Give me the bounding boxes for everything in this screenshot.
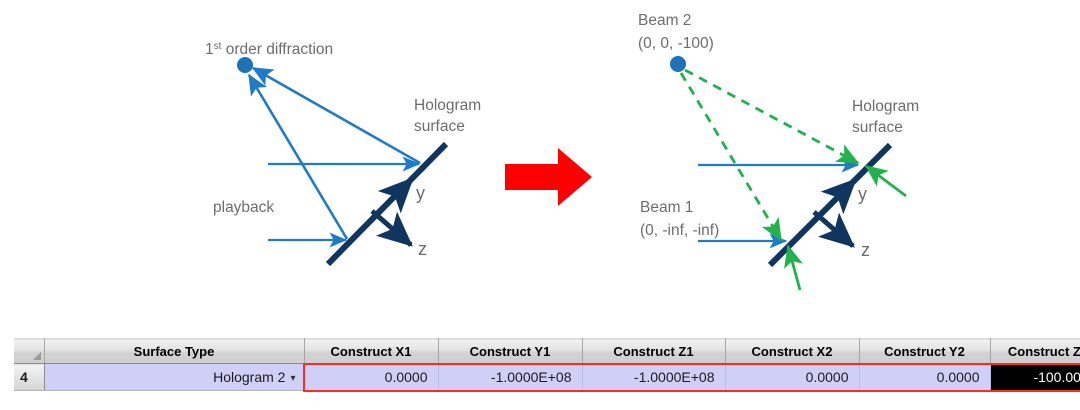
red-right-arrow bbox=[505, 148, 592, 206]
hologram-surface-label-right-line1: Hologram bbox=[852, 98, 919, 115]
hologram-surface-label-right-line2: surface bbox=[852, 119, 903, 136]
surface-type-value: Hologram 2 bbox=[213, 369, 285, 385]
cell-construct-x1[interactable]: 0.0000 bbox=[304, 364, 438, 391]
cell-construct-z1[interactable]: -1.0000E+08 bbox=[582, 364, 725, 391]
beam1-label-line1: Beam 1 bbox=[640, 199, 693, 216]
beam2-label-line2: (0, 0, -100) bbox=[638, 35, 714, 52]
label-rest: order diffraction bbox=[221, 41, 333, 58]
column-header-construct-x2[interactable]: Construct X2 bbox=[725, 339, 859, 364]
z-axis-label-left: z bbox=[418, 239, 427, 259]
cell-construct-z2[interactable]: -100.0000 bbox=[990, 364, 1080, 391]
cell-construct-x2[interactable]: 0.0000 bbox=[725, 364, 859, 391]
right-diagram-group: Beam 2 (0, 0, -100) y z Beam 1 (0, - bbox=[638, 12, 919, 290]
beam2-label-line1: Beam 2 bbox=[638, 12, 691, 29]
diffracted-ray-upper bbox=[253, 68, 420, 163]
green-arrow-lower bbox=[788, 246, 800, 290]
green-arrow-upper bbox=[866, 166, 906, 196]
beam2-point bbox=[670, 56, 686, 72]
row-number-cell[interactable]: 4 bbox=[14, 364, 44, 391]
table-row[interactable]: 4 Hologram 2▾ 0.0000 -1.0000E+08 -1.0000… bbox=[14, 364, 1080, 391]
transition-arrow-group bbox=[505, 148, 592, 206]
surface-data-table[interactable]: Surface Type Construct X1 Construct Y1 C… bbox=[14, 338, 1080, 391]
hologram-surface-label-left-line1: Hologram bbox=[414, 97, 481, 114]
hologram-surface-label-left-line2: surface bbox=[414, 118, 465, 135]
label-base: 1 bbox=[205, 41, 214, 58]
y-axis-label-right: y bbox=[858, 184, 867, 204]
column-header-construct-y2[interactable]: Construct Y2 bbox=[859, 339, 990, 364]
playback-label: playback bbox=[213, 199, 274, 216]
z-axis-arrow-left bbox=[372, 211, 411, 245]
column-header-construct-x1[interactable]: Construct X1 bbox=[304, 339, 438, 364]
column-header-construct-y1[interactable]: Construct Y1 bbox=[438, 339, 582, 364]
beam1-label-line2: (0, -inf, -inf) bbox=[640, 222, 719, 239]
corner-triangle-icon bbox=[33, 352, 41, 360]
diagram-area: 1st order diffraction y z playback Holog… bbox=[0, 0, 1080, 320]
optics-diagram: 1st order diffraction y z playback Holog… bbox=[0, 0, 1080, 320]
first-order-diffraction-label: 1st order diffraction bbox=[205, 41, 333, 58]
cell-construct-y2[interactable]: 0.0000 bbox=[859, 364, 990, 391]
z-axis-label-right: z bbox=[861, 240, 870, 260]
y-axis-label-left: y bbox=[416, 183, 425, 203]
beam2-construct-ray-upper bbox=[685, 70, 858, 163]
select-all-corner[interactable] bbox=[14, 339, 44, 364]
z-axis-arrow-right bbox=[814, 212, 853, 246]
column-header-construct-z2[interactable]: Construct Z2 bbox=[990, 339, 1080, 364]
construct-z2-value: -100.0000 bbox=[1033, 369, 1080, 385]
chevron-down-icon[interactable]: ▾ bbox=[290, 373, 295, 384]
column-header-construct-z1[interactable]: Construct Z1 bbox=[582, 339, 725, 364]
cell-construct-y1[interactable]: -1.0000E+08 bbox=[438, 364, 582, 391]
table-header-row: Surface Type Construct X1 Construct Y1 C… bbox=[14, 339, 1080, 364]
first-order-point-left bbox=[237, 57, 253, 73]
cell-surface-type[interactable]: Hologram 2▾ bbox=[44, 364, 304, 391]
left-diagram-group: 1st order diffraction y z playback Holog… bbox=[205, 41, 481, 264]
beam2-construct-ray-lower bbox=[681, 73, 781, 240]
column-header-surface-type[interactable]: Surface Type bbox=[44, 339, 304, 364]
